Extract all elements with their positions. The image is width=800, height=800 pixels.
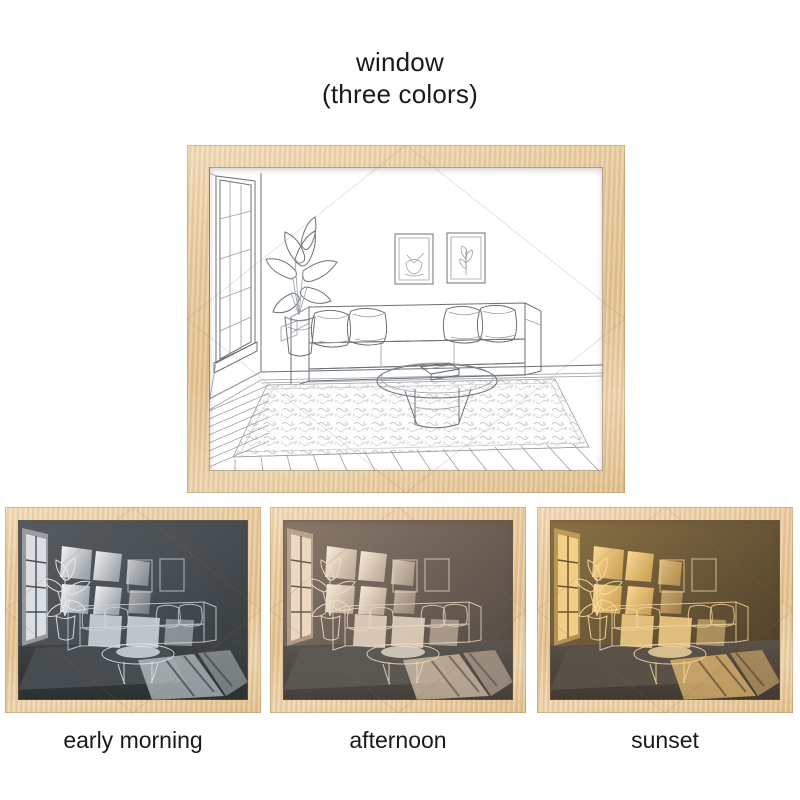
scene-early-morning xyxy=(18,520,248,700)
title-line-2: (three colors) xyxy=(0,78,800,110)
variant-artwork-early-morning xyxy=(18,520,248,700)
variant-artwork-afternoon xyxy=(283,520,513,700)
lit-scene-svg-afternoon xyxy=(283,520,513,700)
caption-early-morning: early morning xyxy=(5,726,261,754)
scene-sunset xyxy=(550,520,780,700)
page-title: window (three colors) xyxy=(0,46,800,110)
caption-sunset: sunset xyxy=(537,726,793,754)
lit-scene-svg-sunset xyxy=(550,520,780,700)
line-art-svg xyxy=(209,167,603,471)
variant-frame-early-morning xyxy=(5,507,261,713)
main-product-frame xyxy=(187,145,625,493)
main-frame-artwork xyxy=(209,167,603,471)
rug-lines xyxy=(233,379,589,457)
variant-frame-afternoon xyxy=(270,507,526,713)
lit-scene-svg-early-morning xyxy=(18,520,248,700)
product-image: window (three colors) xyxy=(0,0,800,800)
caption-afternoon: afternoon xyxy=(270,726,526,754)
title-line-1: window xyxy=(356,47,444,77)
variant-artwork-sunset xyxy=(550,520,780,700)
living-room-line-art-scene xyxy=(209,167,603,471)
scene-afternoon xyxy=(283,520,513,700)
variant-frame-sunset xyxy=(537,507,793,713)
